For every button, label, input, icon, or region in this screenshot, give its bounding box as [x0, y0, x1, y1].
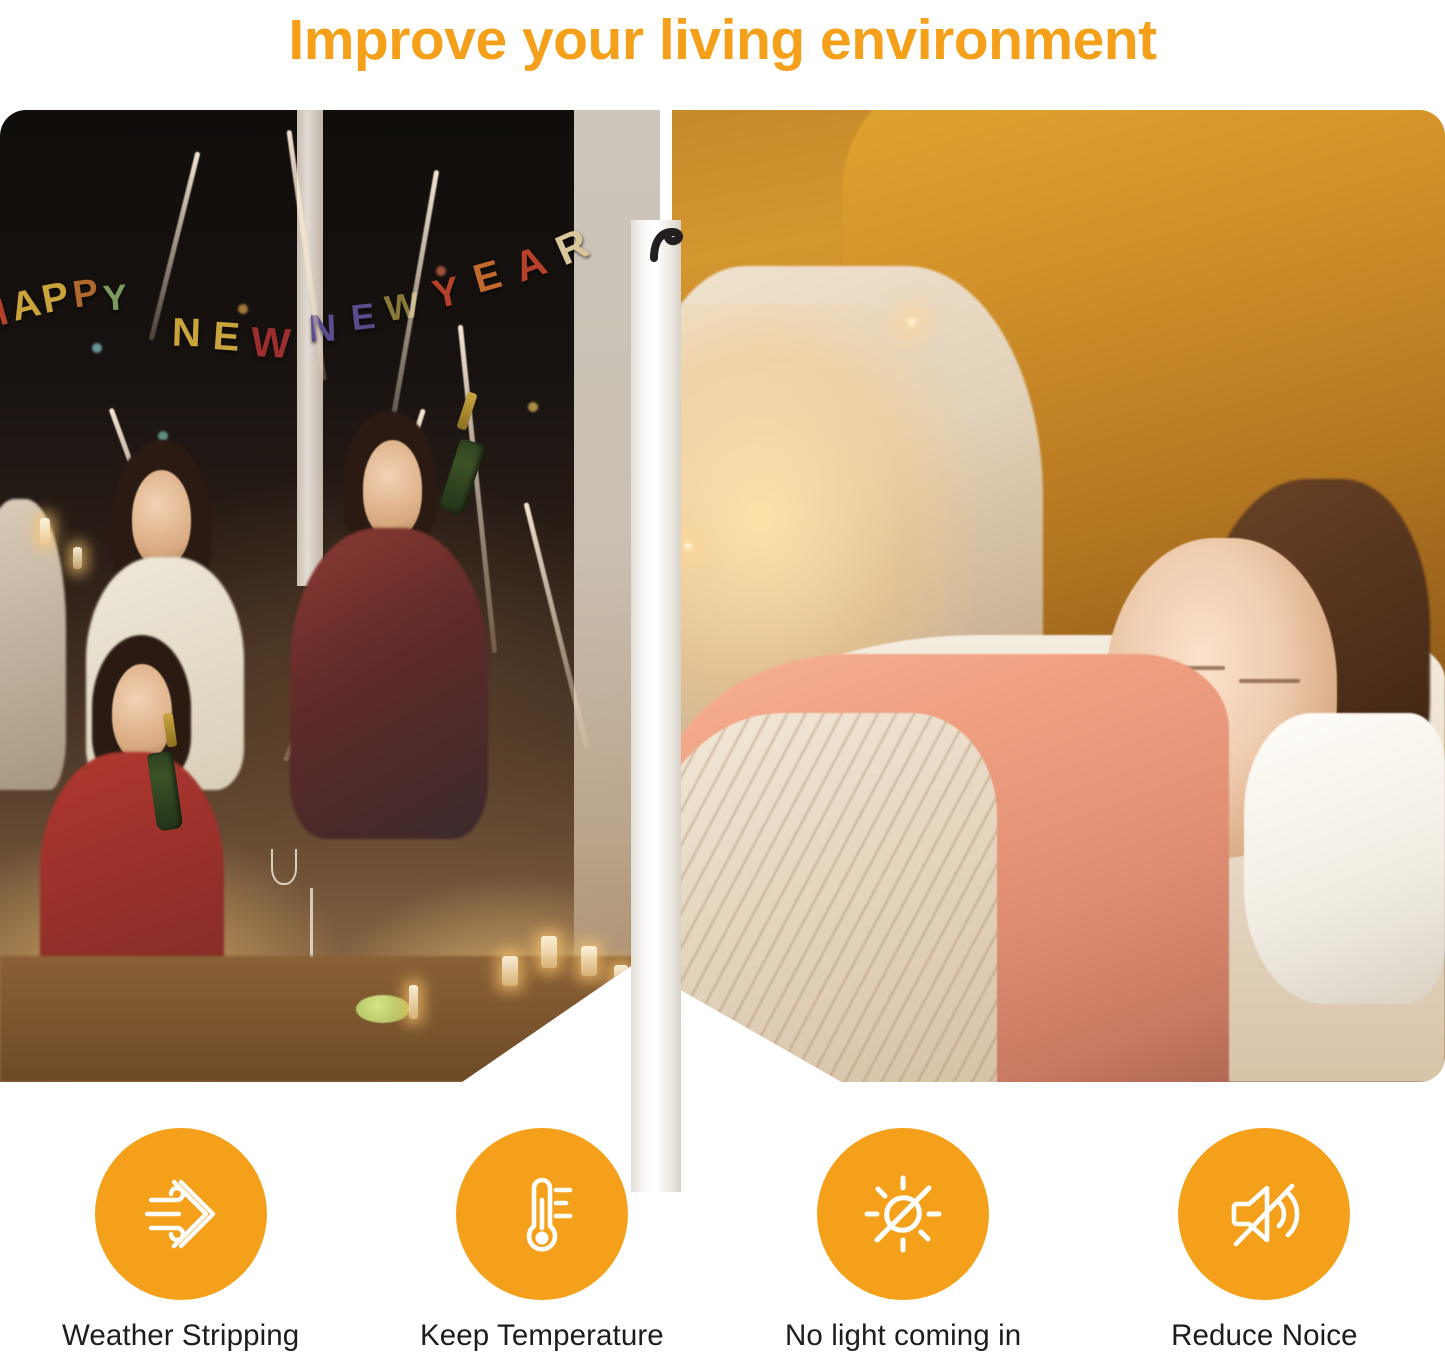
candle [40, 518, 50, 544]
person-body [290, 528, 488, 839]
wind-arrow-icon [129, 1162, 233, 1266]
new-year-party-photo: HAPPYNEWNEWYEAR [0, 110, 660, 1082]
banner-letter: A [509, 239, 552, 289]
party-scene-backdrop: HAPPYNEWNEWYEAR [0, 110, 660, 1082]
fairy-light [904, 314, 920, 330]
candle [502, 956, 518, 986]
person-face [132, 470, 191, 567]
banner-letter: P [38, 275, 72, 319]
sleeping-child-photo [672, 110, 1445, 1082]
child-sleeve [1244, 713, 1445, 1005]
feature-item-no-light: No light coming in [723, 1128, 1084, 1371]
hero-photo-block: HAPPYNEWNEWYEAR [0, 110, 1445, 1082]
speaker-mute-icon [1212, 1162, 1316, 1266]
happy-new-year-banner: HAPPYNEWNEWYEAR [0, 217, 660, 450]
champagne-glass [271, 849, 297, 885]
door-frame [631, 220, 681, 1192]
thermometer-icon [490, 1162, 594, 1266]
banner-letter: E [212, 316, 241, 358]
bedroom-backdrop [672, 110, 1445, 1082]
candle [581, 946, 597, 976]
feature-icon-circle [1178, 1128, 1350, 1300]
feature-item-reduce-noise: Reduce Noice [1084, 1128, 1445, 1371]
banner-letter: A [6, 282, 44, 328]
banner-letter: Y [429, 271, 463, 316]
banner-letter: R [549, 222, 594, 273]
feature-label: Keep Temperature [420, 1319, 664, 1353]
child-eyelid [1239, 679, 1299, 683]
grapes [356, 995, 410, 1023]
person-face [363, 440, 422, 537]
person-body [0, 499, 66, 791]
banner-letter: E [469, 254, 506, 300]
feature-icon-circle [95, 1128, 267, 1300]
banner-letter: P [70, 274, 100, 315]
confetti [238, 304, 248, 314]
feature-icon-circle [817, 1128, 989, 1300]
fairy-light [680, 538, 696, 554]
confetti [528, 402, 538, 412]
banner-letter: N [171, 312, 201, 353]
banner-letter: E [349, 297, 377, 335]
sun-slash-icon [851, 1162, 955, 1266]
knit-throw [672, 713, 997, 1082]
banner-letter: W [250, 321, 292, 365]
feature-item-weather-stripping: Weather Stripping [0, 1128, 361, 1371]
weather-seal-strip [648, 224, 692, 266]
candle [73, 547, 82, 569]
feature-label: No light coming in [785, 1319, 1021, 1353]
party-table [0, 956, 660, 1082]
candle [541, 936, 557, 968]
feature-label: Weather Stripping [62, 1319, 299, 1353]
feature-row: Weather Stripping Keep Temperature [0, 1128, 1445, 1371]
candle [614, 965, 628, 991]
person-face [112, 664, 171, 761]
banner-letter: Y [102, 279, 128, 317]
product-marketing-image: Improve your living environment HAPPYNEW… [0, 0, 1445, 1371]
confetti [436, 266, 446, 276]
candle [409, 985, 418, 1019]
page-title: Improve your living environment [0, 0, 1445, 80]
feature-label: Reduce Noice [1171, 1319, 1358, 1353]
feature-icon-circle [456, 1128, 628, 1300]
